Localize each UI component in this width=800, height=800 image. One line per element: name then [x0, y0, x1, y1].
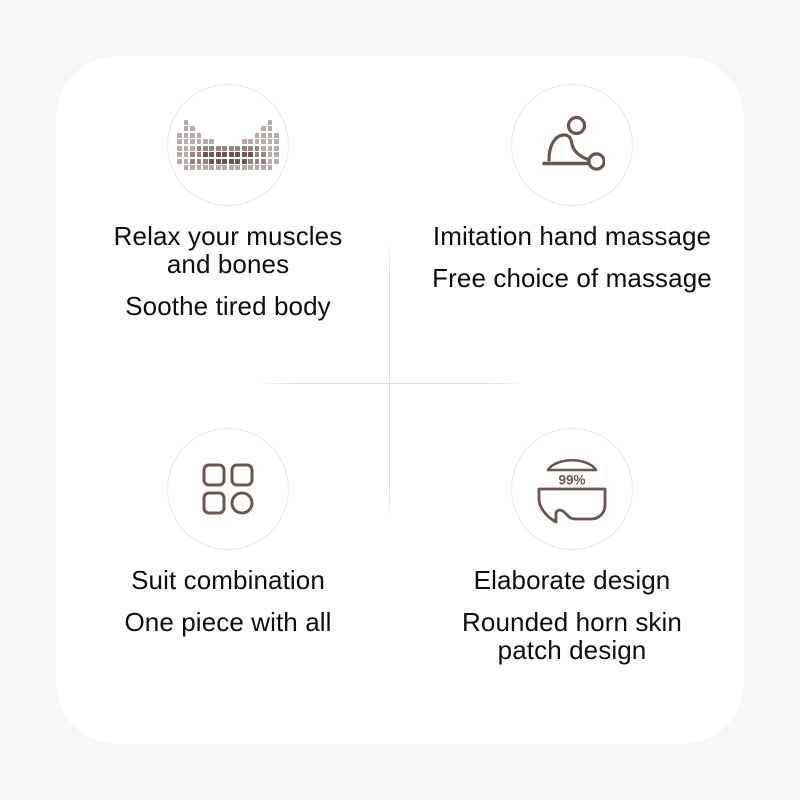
matrix-dot: [216, 152, 221, 157]
matrix-dot: [248, 139, 253, 144]
feature-text-block-3: Suit combination One piece with all: [56, 566, 400, 636]
matrix-dot: [203, 120, 208, 125]
matrix-dot: [255, 146, 260, 151]
matrix-dot: [261, 152, 266, 157]
matrix-dot: [255, 139, 260, 144]
matrix-dot: [235, 165, 240, 170]
matrix-dot: [190, 133, 195, 138]
matrix-dot: [229, 146, 234, 151]
matrix-dot: [255, 152, 260, 157]
feature-line-2a: Imitation hand massage: [404, 222, 740, 250]
matrix-dot: [177, 146, 182, 151]
matrix-dot: [190, 139, 195, 144]
matrix-dot: [235, 146, 240, 151]
rounded-horn-patch-icon: 99%: [534, 453, 610, 525]
matrix-dot: [184, 139, 189, 144]
feature-text-block-2: Imitation hand massage Free choice of ma…: [400, 222, 744, 292]
feature-item-elaborate-design: 99% Elaborate design Rounded horn skin p…: [400, 400, 744, 744]
matrix-dot: [203, 133, 208, 138]
matrix-dot: [268, 120, 273, 125]
matrix-dot: [216, 165, 221, 170]
matrix-dot: [177, 133, 182, 138]
feature-line-4a: Elaborate design: [404, 566, 740, 594]
matrix-dot: [177, 120, 182, 125]
matrix-dot: [255, 159, 260, 164]
matrix-dot: [203, 146, 208, 151]
matrix-dot: [229, 133, 234, 138]
matrix-dot: [235, 159, 240, 164]
matrix-dot: [235, 126, 240, 131]
matrix-dot: [229, 120, 234, 125]
matrix-dot: [235, 152, 240, 157]
matrix-dot: [197, 152, 202, 157]
matrix-dot: [242, 146, 247, 151]
matrix-dot: [190, 126, 195, 131]
matrix-dot: [248, 126, 253, 131]
matrix-dot: [222, 159, 227, 164]
matrix-dot: [216, 159, 221, 164]
matrix-dot: [261, 159, 266, 164]
feature-text-block-4: Elaborate design Rounded horn skin patch…: [400, 566, 744, 664]
matrix-dot: [274, 126, 279, 131]
matrix-dot: [209, 139, 214, 144]
matrix-dot: [222, 152, 227, 157]
feature-line-1b: Soothe tired body: [60, 292, 396, 320]
matrix-dot: [222, 165, 227, 170]
hand-massage-therapist-icon: [539, 114, 605, 176]
matrix-dot: [184, 159, 189, 164]
matrix-dot: [209, 126, 214, 131]
icon-circle-1: [167, 84, 289, 206]
matrix-dot: [261, 139, 266, 144]
matrix-dot: [184, 152, 189, 157]
matrix-dot: [190, 152, 195, 157]
matrix-dot: [248, 159, 253, 164]
matrix-dot: [235, 120, 240, 125]
patch-percent-badge: 99%: [558, 473, 585, 488]
matrix-dot: [209, 165, 214, 170]
matrix-dot: [209, 120, 214, 125]
matrix-dot: [203, 126, 208, 131]
matrix-dot: [248, 152, 253, 157]
matrix-dot: [255, 165, 260, 170]
matrix-dot: [229, 126, 234, 131]
matrix-dot: [222, 120, 227, 125]
matrix-dot: [203, 139, 208, 144]
matrix-dot: [190, 120, 195, 125]
matrix-dot: [222, 133, 227, 138]
matrix-dot: [177, 165, 182, 170]
matrix-dot: [222, 126, 227, 131]
matrix-dot: [261, 146, 266, 151]
matrix-dot: [197, 165, 202, 170]
matrix-dot: [216, 146, 221, 151]
matrix-dot: [203, 152, 208, 157]
matrix-dot: [209, 152, 214, 157]
matrix-dot: [216, 139, 221, 144]
matrix-dot: [242, 159, 247, 164]
matrix-dot: [197, 120, 202, 125]
matrix-dot: [274, 139, 279, 144]
matrix-dot: [268, 133, 273, 138]
matrix-dot: [248, 165, 253, 170]
grid-combination-icon: [201, 462, 255, 516]
matrix-dot: [229, 159, 234, 164]
matrix-dot: [216, 133, 221, 138]
matrix-dot: [184, 120, 189, 125]
matrix-dot: [261, 120, 266, 125]
matrix-dot: [197, 126, 202, 131]
matrix-dot: [242, 165, 247, 170]
matrix-dot: [242, 139, 247, 144]
matrix-dot: [242, 152, 247, 157]
matrix-dot: [248, 133, 253, 138]
icon-circle-2: [511, 84, 633, 206]
matrix-dot: [177, 139, 182, 144]
matrix-dot: [235, 133, 240, 138]
matrix-dot: [190, 159, 195, 164]
matrix-dot: [248, 146, 253, 151]
matrix-dot: [274, 165, 279, 170]
matrix-dot: [177, 126, 182, 131]
matrix-dot: [177, 152, 182, 157]
matrix-dot: [268, 126, 273, 131]
feature-line-3b: One piece with all: [60, 608, 396, 636]
matrix-dot: [216, 120, 221, 125]
matrix-dot: [184, 146, 189, 151]
matrix-dot: [274, 120, 279, 125]
matrix-dot: [255, 133, 260, 138]
feature-line-1a: Relax your muscles and bones: [97, 222, 359, 278]
matrix-dot: [216, 126, 221, 131]
matrix-dot: [268, 165, 273, 170]
matrix-dot: [190, 165, 195, 170]
matrix-dot: [261, 133, 266, 138]
matrix-dot: [268, 146, 273, 151]
matrix-dot: [274, 133, 279, 138]
matrix-dot: [209, 133, 214, 138]
matrix-dot: [190, 146, 195, 151]
matrix-dot: [184, 165, 189, 170]
feature-text-block-1: Relax your muscles and bones Soothe tire…: [56, 222, 400, 320]
icon-circle-3: [167, 428, 289, 550]
matrix-dot: [184, 126, 189, 131]
matrix-dot: [197, 159, 202, 164]
matrix-dot: [184, 133, 189, 138]
matrix-dot: [268, 159, 273, 164]
matrix-dot: [197, 133, 202, 138]
matrix-dot: [274, 159, 279, 164]
matrix-dot: [209, 159, 214, 164]
feature-item-suit-combination: Suit combination One piece with all: [56, 400, 400, 744]
feature-grid: Relax your muscles and bones Soothe tire…: [56, 56, 744, 744]
matrix-dot: [242, 126, 247, 131]
dot-matrix-cushion-icon: [177, 120, 279, 170]
matrix-dot: [229, 152, 234, 157]
feature-item-hand-massage: Imitation hand massage Free choice of ma…: [400, 56, 744, 400]
matrix-dot: [203, 165, 208, 170]
matrix-dot: [177, 159, 182, 164]
matrix-dot: [235, 139, 240, 144]
matrix-dot: [274, 146, 279, 151]
feature-item-relax-muscles: Relax your muscles and bones Soothe tire…: [56, 56, 400, 400]
matrix-dot: [229, 139, 234, 144]
matrix-dot: [222, 139, 227, 144]
matrix-dot: [274, 152, 279, 157]
matrix-dot: [261, 126, 266, 131]
matrix-dot: [268, 139, 273, 144]
matrix-dot: [255, 126, 260, 131]
matrix-dot: [222, 146, 227, 151]
icon-circle-4: 99%: [511, 428, 633, 550]
matrix-dot: [248, 120, 253, 125]
matrix-dot: [197, 139, 202, 144]
feature-line-2b: Free choice of massage: [404, 264, 740, 292]
matrix-dot: [203, 159, 208, 164]
feature-line-3a: Suit combination: [60, 566, 396, 594]
matrix-dot: [229, 165, 234, 170]
matrix-dot: [268, 152, 273, 157]
matrix-dot: [209, 146, 214, 151]
feature-grid-page: Relax your muscles and bones Soothe tire…: [0, 0, 800, 800]
matrix-dot: [197, 146, 202, 151]
matrix-dot: [242, 120, 247, 125]
feature-line-4b: Rounded horn skin patch design: [447, 608, 697, 664]
matrix-dot: [242, 133, 247, 138]
matrix-dot: [255, 120, 260, 125]
matrix-dot: [261, 165, 266, 170]
